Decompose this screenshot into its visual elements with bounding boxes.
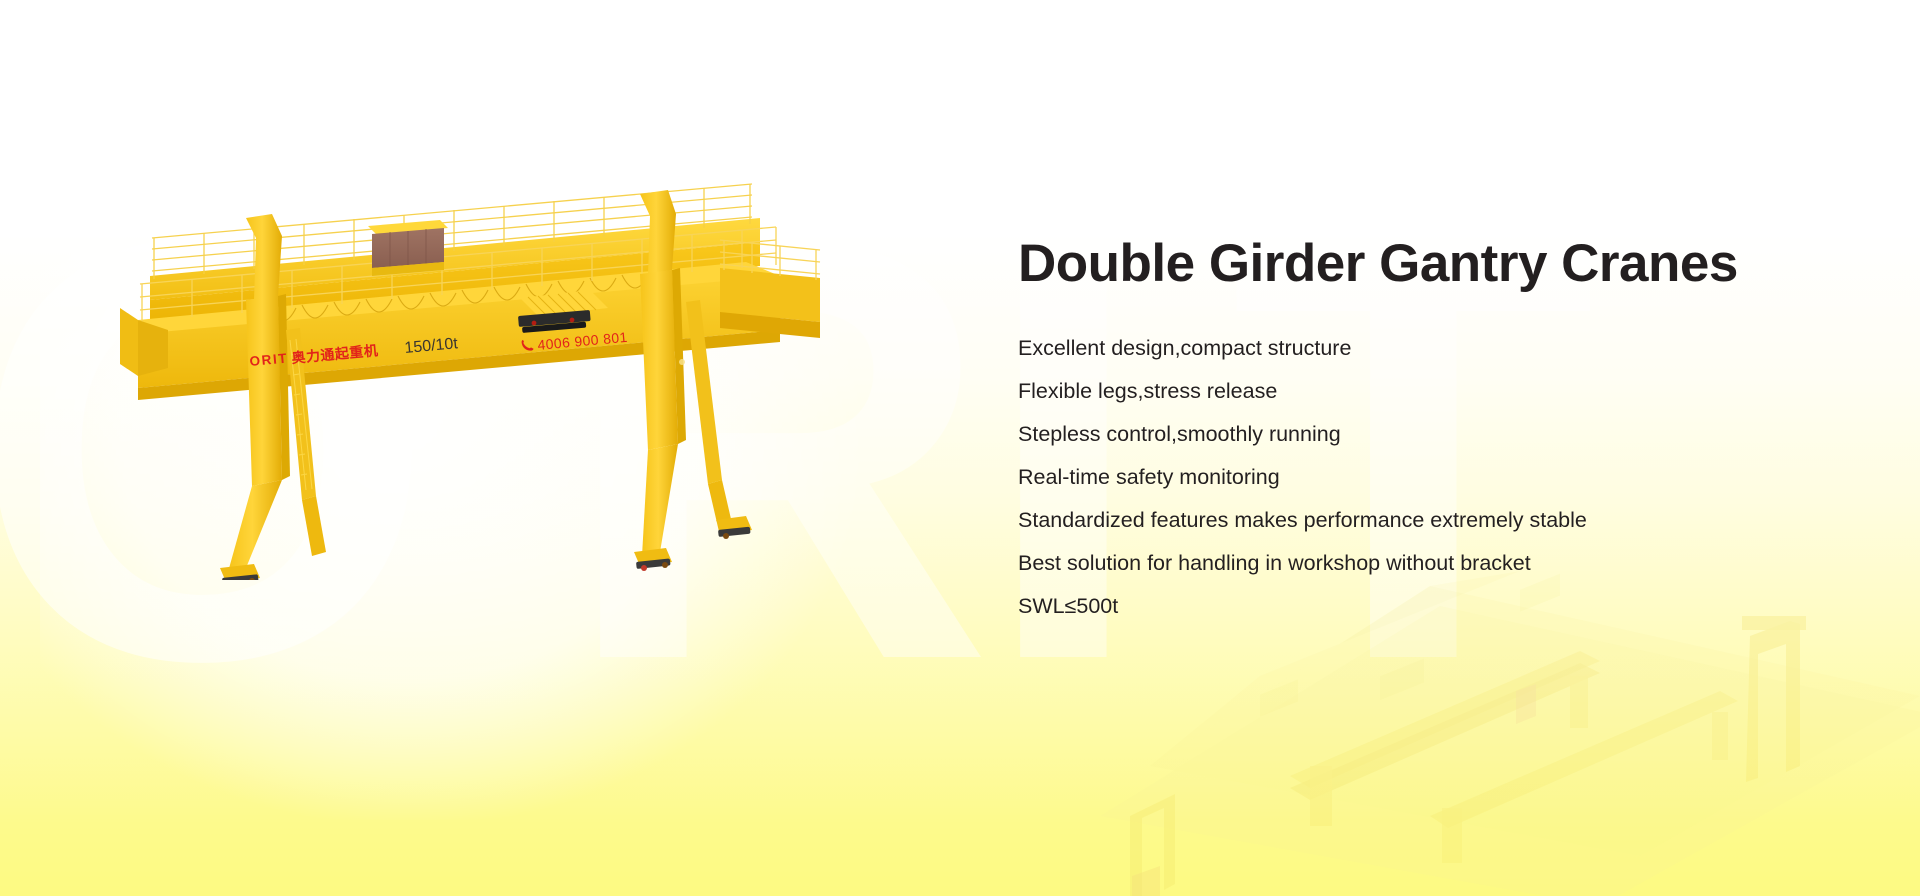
banner-stage: O R I T [0, 0, 1920, 896]
machinery-house [368, 220, 448, 276]
feature-item: Real-time safety monitoring [1018, 467, 1878, 489]
left-bogie [220, 564, 260, 580]
right-bogie-front [634, 548, 672, 571]
feature-item: Stepless control,smoothly running [1018, 424, 1878, 446]
gantry-crane-illustration: ORIT 奥力通起重机 150/10t 4006 900 801 [120, 180, 860, 580]
feature-item: Standardized features makes performance … [1018, 510, 1878, 532]
content-column: Double Girder Gantry Cranes Excellent de… [1018, 236, 1878, 617]
page-title: Double Girder Gantry Cranes [1018, 236, 1878, 292]
right-bogie-rear [716, 516, 752, 539]
crane-structure: ORIT 奥力通起重机 150/10t 4006 900 801 [120, 184, 820, 580]
feature-item: Excellent design,compact structure [1018, 338, 1878, 360]
feature-list: Excellent design,compact structure Flexi… [1018, 338, 1878, 618]
feature-item: Flexible legs,stress release [1018, 381, 1878, 403]
feature-item: Best solution for handling in workshop w… [1018, 553, 1878, 575]
feature-item: SWL≤500t [1018, 596, 1878, 618]
